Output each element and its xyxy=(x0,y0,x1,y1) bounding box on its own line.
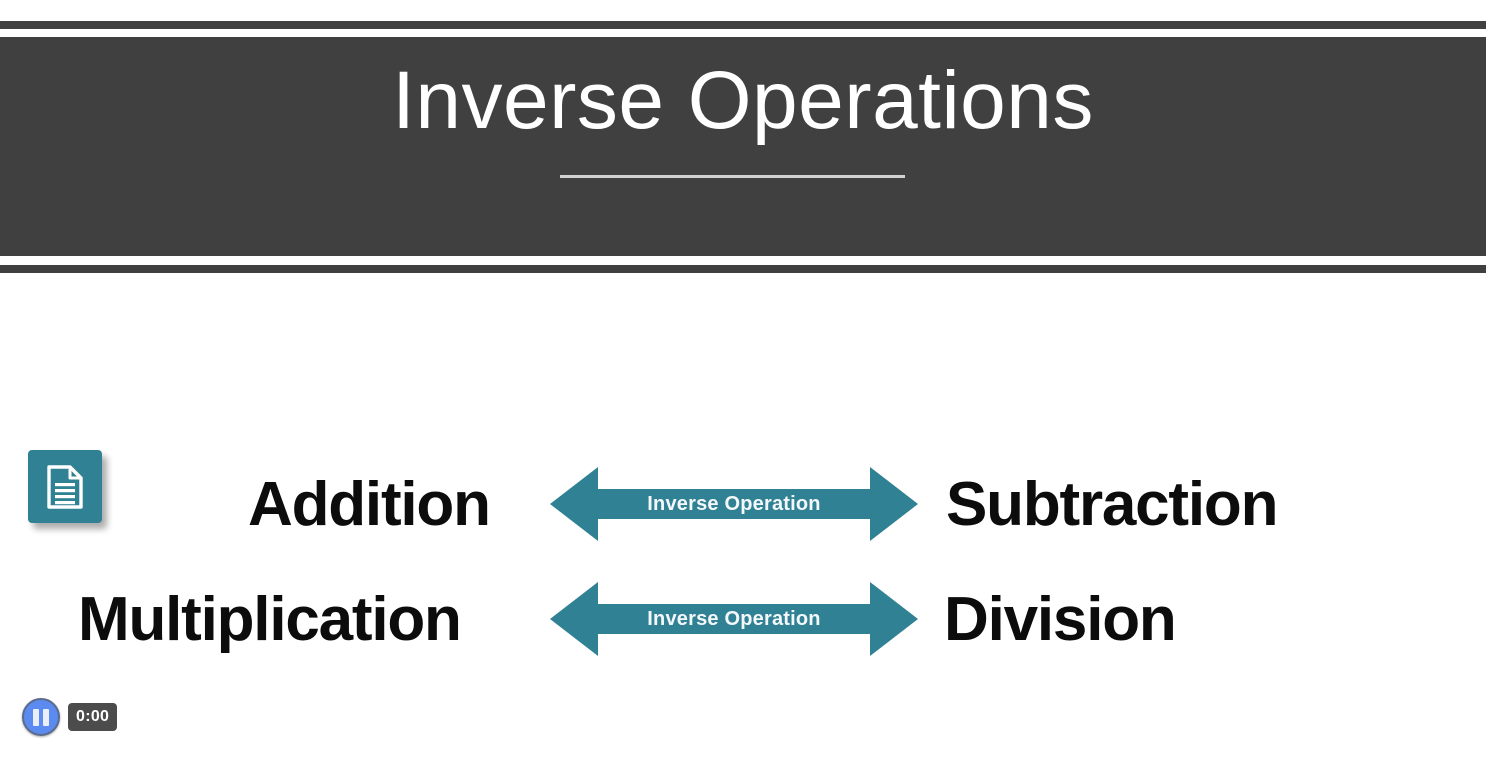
title-top-rule xyxy=(0,21,1486,29)
operation-label-right: Subtraction xyxy=(946,450,1277,560)
pause-icon xyxy=(43,709,49,726)
operation-pair-row: Addition Inverse Operation Subtraction xyxy=(0,455,1486,565)
operation-label-left: Multiplication xyxy=(78,565,461,675)
pause-icon xyxy=(33,709,39,726)
inverse-operation-arrow: Inverse Operation xyxy=(550,578,918,660)
audio-elapsed-time: 0:00 xyxy=(68,703,117,731)
title-underline-divider xyxy=(560,175,905,178)
inverse-operation-arrow: Inverse Operation xyxy=(550,463,918,545)
arrow-label: Inverse Operation xyxy=(550,578,918,660)
title-bottom-rule xyxy=(0,265,1486,273)
operation-label-left: Addition xyxy=(248,450,490,560)
audio-player-control[interactable]: 0:00 xyxy=(16,694,128,740)
arrow-label: Inverse Operation xyxy=(550,463,918,545)
operation-pair-row: Multiplication Inverse Operation Divisio… xyxy=(0,570,1486,680)
page-title: Inverse Operations xyxy=(0,60,1486,142)
pause-button[interactable] xyxy=(22,698,60,736)
slide-canvas: Inverse Operations Addition Inverse Oper… xyxy=(0,0,1486,760)
operation-label-right: Division xyxy=(944,565,1176,675)
